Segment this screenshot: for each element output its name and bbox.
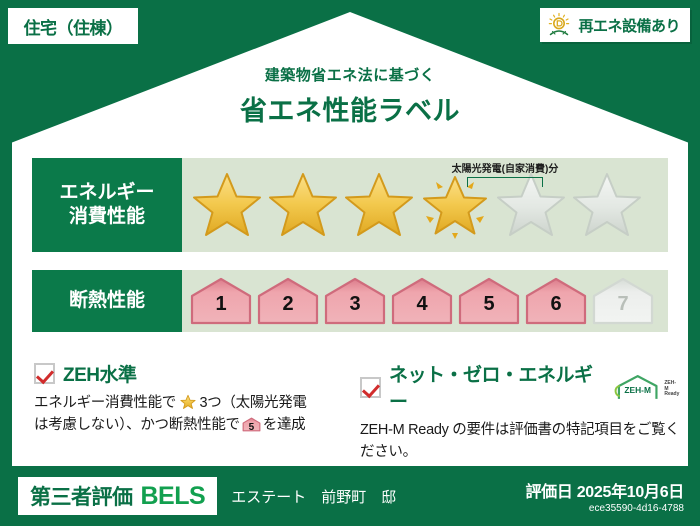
insulation-grade-1: 1 <box>188 276 254 326</box>
evaluation-code: ece35590-4d16-4788 <box>525 503 684 514</box>
mini-insulation-badge-icon: 5 <box>242 416 261 433</box>
net-zero-energy-block: ネット・ゼロ・エネルギー ZEH-M ZEH-M Ready ZEH-M Rea… <box>360 360 680 464</box>
mini-star-icon <box>180 395 200 411</box>
zeh-description: エネルギー消費性能で 3つ（太陽光発電 は考慮しない）、かつ断熱性能で 5 を達… <box>34 393 344 437</box>
zeh-m-logo: ZEH-M ZEH-M Ready <box>613 373 680 401</box>
star-filled-3 <box>342 169 416 241</box>
evaluation-info: 評価日 2025年10月6日 ece35590-4d16-4788 <box>525 478 684 514</box>
star-filled-1 <box>190 169 264 241</box>
zeh-text-part2: 3つ（太陽光発電 <box>199 395 306 411</box>
building-name: エステート 前野町 邸 <box>231 486 396 507</box>
zeh-text-part4: を達成 <box>263 417 306 433</box>
energy-label-line2: 消費性能 <box>69 205 145 229</box>
insulation-performance-row: 断熱性能 1 <box>32 270 668 332</box>
insulation-performance-label: 断熱性能 <box>32 270 182 332</box>
zeh-m-ready-caption: ZEH-M Ready <box>664 381 680 401</box>
svg-text:ZEH-M: ZEH-M <box>624 385 651 395</box>
net-zero-title: ネット・ゼロ・エネルギー <box>389 360 601 414</box>
insulation-grade-6: 6 <box>523 276 589 326</box>
zeh-checkbox-checked-icon[interactable] <box>34 363 55 384</box>
insulation-grade-number: 3 <box>322 293 388 316</box>
insulation-grade-number: 5 <box>456 293 522 316</box>
renewable-equipment-label: 再エネ設備あり <box>578 15 680 36</box>
insulation-grade-number: 7 <box>590 293 656 316</box>
star-filled-4-solar <box>418 169 492 241</box>
insulation-grade-5: 5 <box>456 276 522 326</box>
insulation-grade-number: 1 <box>188 293 254 316</box>
title-main: 省エネ性能ラベル <box>12 89 688 128</box>
title-subtitle: 建築物省エネ法に基づく <box>12 64 688 85</box>
insulation-grade-4: 4 <box>389 276 455 326</box>
insulation-grades-area: 1 2 3 <box>182 270 668 332</box>
footer-bar: 第三者評価 BELS エステート 前野町 邸 評価日 2025年10月6日 ec… <box>0 466 700 526</box>
net-zero-description: ZEH-M Ready の要件は評価書の特記項目をご覧ください。 <box>360 420 680 464</box>
insulation-grade-list: 1 2 3 <box>188 276 656 326</box>
insulation-grade-3: 3 <box>322 276 388 326</box>
third-party-eval-label: 第三者評価 <box>30 481 133 511</box>
insulation-label-text: 断熱性能 <box>69 289 145 313</box>
mini-badge-value: 5 <box>242 420 261 435</box>
star-empty-6 <box>570 169 644 241</box>
label-title-block: 建築物省エネ法に基づく 省エネ性能ラベル <box>12 64 688 128</box>
insulation-grade-7: 7 <box>590 276 656 326</box>
star-empty-5 <box>494 169 568 241</box>
evaluation-date: 評価日 2025年10月6日 <box>525 478 684 502</box>
star-filled-2 <box>266 169 340 241</box>
bels-certification-box: 第三者評価 BELS <box>18 477 217 515</box>
zeh-m-ready-line2: Ready <box>664 391 679 397</box>
energy-performance-label: エネルギー 消費性能 <box>32 158 182 252</box>
housing-type-tag: 住宅（住棟） <box>8 8 138 44</box>
zeh-standard-block: ZEH水準 エネルギー消費性能で 3つ（太陽光発電 は考慮しない）、かつ断熱性能… <box>34 360 344 437</box>
insulation-grade-number: 6 <box>523 293 589 316</box>
renewable-equipment-badge: 再エネ設備あり <box>540 8 690 42</box>
zeh-title: ZEH水準 <box>63 360 137 387</box>
zeh-heading: ZEH水準 <box>34 360 344 387</box>
energy-performance-row: エネルギー 消費性能 <box>32 158 668 252</box>
zeh-m-ready-line1: ZEH-M <box>664 380 676 392</box>
insulation-grade-number: 4 <box>389 293 455 316</box>
insulation-grade-number: 2 <box>255 293 321 316</box>
solar-sun-icon <box>546 12 572 38</box>
net-zero-heading: ネット・ゼロ・エネルギー ZEH-M ZEH-M Ready <box>360 360 680 414</box>
housing-type-label: 住宅（住棟） <box>24 14 123 39</box>
bels-logo-text: BELS <box>141 482 206 511</box>
energy-label-line1: エネルギー <box>59 181 154 205</box>
insulation-grade-2: 2 <box>255 276 321 326</box>
zeh-text-part3: は考慮しない）、かつ断熱性能で <box>34 417 240 433</box>
zeh-text-part1: エネルギー消費性能で <box>34 395 176 411</box>
net-zero-checkbox-checked-icon[interactable] <box>360 377 381 398</box>
star-rating <box>190 169 644 241</box>
energy-stars-area: 太陽光発電(自家消費)分 <box>182 158 668 252</box>
energy-performance-label-card: 住宅（住棟） 再エネ設備あり <box>0 0 700 526</box>
